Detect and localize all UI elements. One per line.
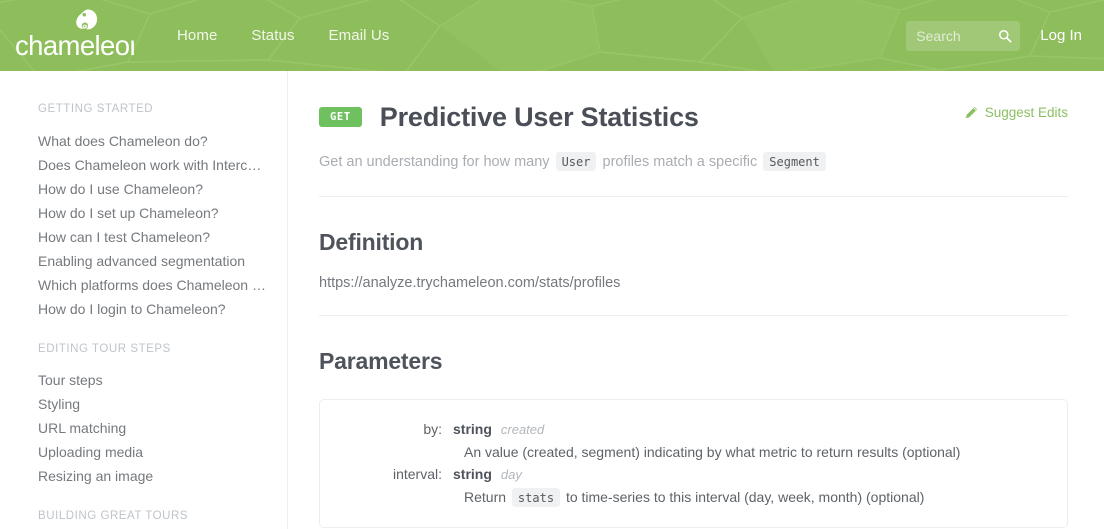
chameleon-logo[interactable]: chameleon [14, 7, 134, 65]
sidebar-item-how-do-i-set-up-chameleon[interactable]: How do I set up Chameleon? [38, 201, 269, 225]
parameter-description: Return stats to time-series to this inte… [464, 486, 1047, 509]
svg-text:chameleon: chameleon [15, 30, 134, 61]
login-link[interactable]: Log In [1036, 21, 1086, 50]
page-subtitle: Get an understanding for how many User p… [319, 152, 1068, 172]
parameter-default: created [501, 419, 544, 441]
search-icon[interactable] [998, 29, 1012, 43]
title-row: GET Predictive User Statistics Suggest E… [319, 99, 1068, 135]
header-right-group: Search Log In [906, 21, 1104, 51]
pencil-icon [965, 106, 978, 119]
sidebar-item-url-matching[interactable]: URL matching [38, 416, 269, 440]
nav-link-home[interactable]: Home [160, 21, 234, 50]
parameter-description-text: An value (created, segment) indicating b… [464, 444, 960, 460]
parameter-description-post: to time-series to this interval (day, we… [566, 489, 924, 505]
section-divider-2 [319, 315, 1068, 316]
main-nav: Home Status Email Us [160, 21, 406, 50]
site-header: chameleon Home Status Email Us Search Lo… [0, 0, 1104, 71]
definition-url: https://analyze.trychameleon.com/stats/p… [319, 275, 1068, 291]
main-content: GET Predictive User Statistics Suggest E… [288, 71, 1104, 529]
sidebar-item-uploading-media[interactable]: Uploading media [38, 440, 269, 464]
search-box[interactable]: Search [906, 21, 1020, 51]
page-body: GETTING STARTED What does Chameleon do? … [0, 71, 1104, 529]
suggest-edits-label: Suggest Edits [985, 105, 1068, 120]
definition-heading: Definition [319, 229, 1068, 256]
chameleon-mascot-icon [76, 9, 97, 29]
parameter-description: An value (created, segment) indicating b… [464, 441, 1047, 463]
code-chip-user: User [556, 152, 597, 171]
parameter-name: interval: [320, 463, 453, 485]
sidebar-group-title: GETTING STARTED [38, 103, 269, 115]
sidebar-group-getting-started: GETTING STARTED What does Chameleon do? … [38, 103, 269, 321]
sidebar-item-what-does-chameleon-do[interactable]: What does Chameleon do? [38, 129, 269, 153]
section-divider-1 [319, 196, 1068, 197]
sidebar: GETTING STARTED What does Chameleon do? … [0, 71, 288, 529]
sidebar-item-which-platforms-does-chameleon-support[interactable]: Which platforms does Chameleon suppo... [38, 273, 269, 297]
search-input[interactable]: Search [916, 28, 960, 44]
parameter-default: day [501, 464, 522, 486]
parameters-box: by: string created An value (created, se… [319, 399, 1068, 528]
http-method-badge: GET [319, 107, 362, 127]
sidebar-item-enabling-advanced-segmentation[interactable]: Enabling advanced segmentation [38, 249, 269, 273]
sidebar-item-resizing-an-image[interactable]: Resizing an image [38, 464, 269, 488]
sidebar-item-how-do-i-login-to-chameleon[interactable]: How do I login to Chameleon? [38, 297, 269, 321]
sidebar-item-how-do-i-use-chameleon[interactable]: How do I use Chameleon? [38, 177, 269, 201]
subtitle-part-1: Get an understanding for how many [319, 154, 550, 170]
page-title: Predictive User Statistics [380, 102, 699, 133]
sidebar-item-styling[interactable]: Styling [38, 392, 269, 416]
sidebar-item-does-chameleon-work-with-intercom[interactable]: Does Chameleon work with Intercom? [38, 153, 269, 177]
parameter-row: by: string created [320, 418, 1047, 441]
parameter-type: string [453, 418, 492, 440]
sidebar-group-title: EDITING TOUR STEPS [38, 343, 269, 355]
parameter-name: by: [320, 418, 453, 440]
nav-link-email-us[interactable]: Email Us [312, 21, 407, 50]
parameters-heading: Parameters [319, 348, 1068, 375]
sidebar-group-editing-tour-steps: EDITING TOUR STEPS Tour steps Styling UR… [38, 343, 269, 488]
code-chip-stats: stats [512, 488, 560, 507]
nav-link-status[interactable]: Status [234, 21, 311, 50]
sidebar-group-building-great-tours: BUILDING GREAT TOURS [38, 510, 269, 522]
suggest-edits-link[interactable]: Suggest Edits [965, 105, 1068, 120]
sidebar-group-title: BUILDING GREAT TOURS [38, 510, 269, 522]
code-chip-segment: Segment [763, 152, 826, 171]
sidebar-item-tour-steps[interactable]: Tour steps [38, 368, 269, 392]
sidebar-item-how-can-i-test-chameleon[interactable]: How can I test Chameleon? [38, 225, 269, 249]
subtitle-part-2: profiles match a specific [603, 154, 758, 170]
parameter-type: string [453, 463, 492, 485]
parameter-description-pre: Return [464, 489, 506, 505]
parameter-row: interval: string day [320, 463, 1047, 486]
